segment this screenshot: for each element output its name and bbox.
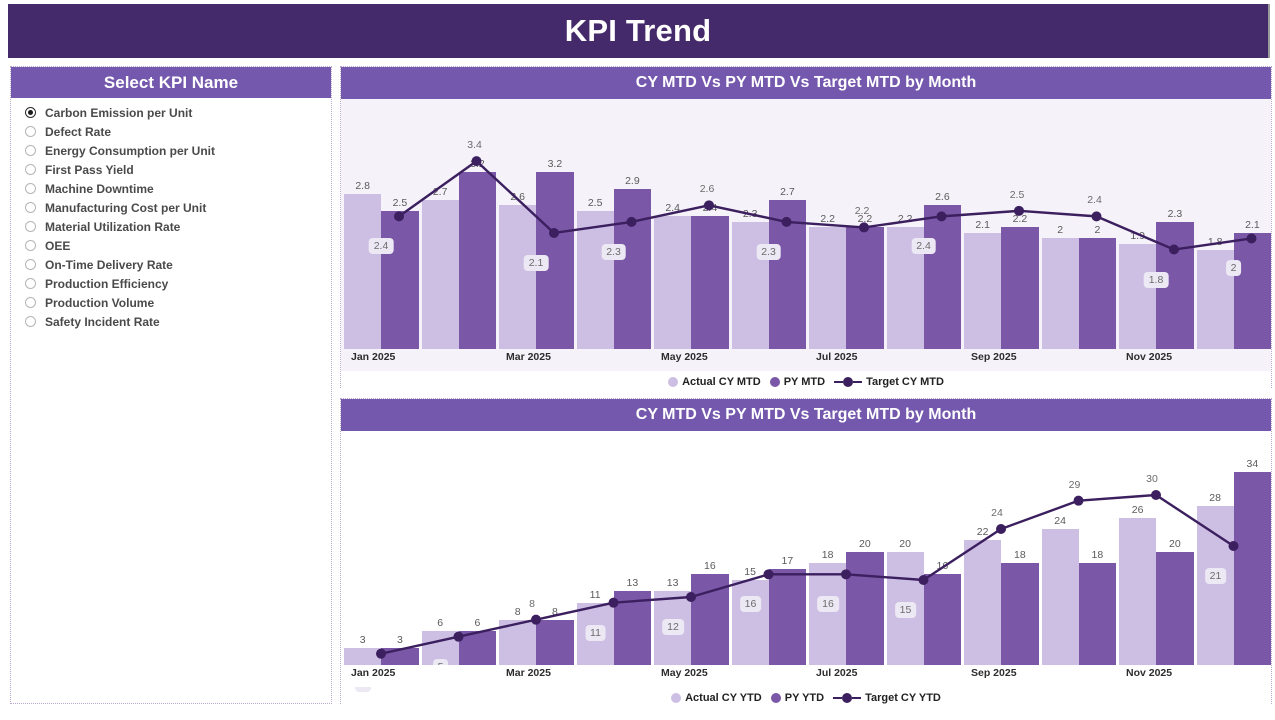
target-value-label: 2.2 bbox=[853, 204, 872, 218]
chart-card-ytd: CY MTD Vs PY MTD Vs Target MTD by Month … bbox=[340, 398, 1272, 704]
axis-tick: Mar 2025 bbox=[496, 349, 574, 371]
target-point[interactable] bbox=[764, 569, 774, 579]
slicer-item-2[interactable]: Energy Consumption per Unit bbox=[25, 141, 331, 160]
slicer-item-label: Manufacturing Cost per Unit bbox=[45, 201, 206, 215]
target-point[interactable] bbox=[841, 569, 851, 579]
target-value-label: 3.4 bbox=[465, 138, 484, 152]
target-value-label: 29 bbox=[1067, 478, 1083, 492]
target-point[interactable] bbox=[627, 217, 637, 227]
axis-tick bbox=[574, 665, 652, 687]
target-point[interactable] bbox=[704, 200, 714, 210]
axis-tick-label: Jul 2025 bbox=[816, 667, 857, 679]
target-value-label: 1.8 bbox=[1144, 272, 1169, 288]
legend-dot-icon bbox=[771, 693, 781, 703]
target-point[interactable] bbox=[549, 228, 559, 238]
axis-tick-label: Jul 2025 bbox=[816, 351, 857, 363]
slicer-item-1[interactable]: Defect Rate bbox=[25, 122, 331, 141]
legend-mtd[interactable]: Actual CY MTDPY MTDTarget CY MTD bbox=[341, 371, 1271, 393]
target-point[interactable] bbox=[1151, 490, 1161, 500]
axis-tick-label: May 2025 bbox=[661, 667, 708, 679]
legend-label: Target CY MTD bbox=[866, 376, 944, 388]
legend-item[interactable]: PY YTD bbox=[771, 692, 824, 704]
target-value-label: 21 bbox=[1205, 568, 1227, 584]
axis-tick bbox=[729, 665, 807, 687]
axis-tick-label: Jan 2025 bbox=[351, 667, 395, 679]
axis-tick: Jan 2025 bbox=[341, 349, 419, 371]
axis-tick bbox=[884, 349, 962, 371]
target-point[interactable] bbox=[859, 222, 869, 232]
target-value-label: 8 bbox=[527, 597, 537, 611]
radio-icon[interactable] bbox=[25, 107, 36, 118]
axis-tick: Jul 2025 bbox=[806, 665, 884, 687]
slicer-item-3[interactable]: First Pass Yield bbox=[25, 160, 331, 179]
axis-tick: Nov 2025 bbox=[1116, 349, 1194, 371]
target-point[interactable] bbox=[609, 598, 619, 608]
legend-label: PY YTD bbox=[785, 692, 824, 704]
target-point[interactable] bbox=[782, 217, 792, 227]
target-value-label: 2.4 bbox=[1085, 193, 1104, 207]
target-value-label: 2.4 bbox=[911, 238, 936, 254]
page-title: KPI Trend bbox=[565, 13, 712, 49]
radio-icon[interactable] bbox=[25, 297, 36, 308]
axis-tick: Sep 2025 bbox=[961, 665, 1039, 687]
radio-icon[interactable] bbox=[25, 202, 36, 213]
axis-tick: Jan 2025 bbox=[341, 665, 419, 687]
axis-tick-label: Nov 2025 bbox=[1126, 351, 1172, 363]
target-value-label: 16 bbox=[740, 596, 762, 612]
target-value-label: 30 bbox=[1144, 472, 1160, 486]
slicer-item-4[interactable]: Machine Downtime bbox=[25, 179, 331, 198]
slicer-item-label: Material Utilization Rate bbox=[45, 220, 180, 234]
x-axis-mtd: Jan 2025Mar 2025May 2025Jul 2025Sep 2025… bbox=[341, 349, 1271, 371]
target-point[interactable] bbox=[531, 615, 541, 625]
slicer-item-label: First Pass Yield bbox=[45, 163, 134, 177]
slicer-item-label: Defect Rate bbox=[45, 125, 111, 139]
axis-tick: Mar 2025 bbox=[496, 665, 574, 687]
axis-tick-label: May 2025 bbox=[661, 351, 708, 363]
target-value-label: 2.1 bbox=[524, 255, 549, 271]
legend-item[interactable]: Target CY MTD bbox=[834, 376, 944, 388]
axis-tick: Jul 2025 bbox=[806, 349, 884, 371]
target-line[interactable] bbox=[399, 161, 1252, 249]
dashboard-page: KPI Trend Select KPI Name Carbon Emissio… bbox=[0, 0, 1275, 720]
target-point[interactable] bbox=[394, 211, 404, 221]
target-point[interactable] bbox=[1247, 233, 1257, 243]
target-point[interactable] bbox=[686, 592, 696, 602]
radio-icon[interactable] bbox=[25, 221, 36, 232]
legend-item[interactable]: Target CY YTD bbox=[833, 692, 941, 704]
chart-title-ytd: CY MTD Vs PY MTD Vs Target MTD by Month bbox=[636, 406, 976, 424]
legend-dot-icon bbox=[668, 377, 678, 387]
axis-tick bbox=[574, 349, 652, 371]
target-point[interactable] bbox=[1074, 496, 1084, 506]
slicer-item-0[interactable]: Carbon Emission per Unit bbox=[25, 103, 331, 122]
target-value-label: 12 bbox=[662, 619, 684, 635]
chart-header-ytd: CY MTD Vs PY MTD Vs Target MTD by Month bbox=[341, 399, 1271, 431]
target-value-label: 11 bbox=[585, 625, 606, 641]
slicer-item-6[interactable]: Material Utilization Rate bbox=[25, 217, 331, 236]
axis-tick bbox=[1039, 665, 1117, 687]
chart-card-mtd: CY MTD Vs PY MTD Vs Target MTD by Month … bbox=[340, 66, 1272, 388]
target-value-label: 16 bbox=[817, 596, 839, 612]
target-value-label: 2.3 bbox=[756, 244, 781, 260]
axis-tick-label: Sep 2025 bbox=[971, 667, 1017, 679]
slicer-header: Select KPI Name bbox=[11, 67, 331, 98]
target-point[interactable] bbox=[996, 524, 1006, 534]
axis-tick bbox=[1194, 665, 1272, 687]
slicer-item-label: Production Volume bbox=[45, 296, 154, 310]
axis-tick bbox=[419, 665, 497, 687]
target-value-label: 24 bbox=[989, 506, 1005, 520]
slicer-item-label: Carbon Emission per Unit bbox=[45, 106, 192, 120]
target-point[interactable] bbox=[1092, 211, 1102, 221]
slicer-item-8[interactable]: On-Time Delivery Rate bbox=[25, 255, 331, 274]
x-axis-ytd: Jan 2025Mar 2025May 2025Jul 2025Sep 2025… bbox=[341, 665, 1271, 687]
legend-label: Actual CY YTD bbox=[685, 692, 762, 704]
target-value-label: 2 bbox=[1226, 260, 1242, 276]
chart-title-mtd: CY MTD Vs PY MTD Vs Target MTD by Month bbox=[636, 74, 976, 92]
legend-item[interactable]: Actual CY YTD bbox=[671, 692, 762, 704]
target-line[interactable] bbox=[381, 495, 1234, 654]
slicer-title: Select KPI Name bbox=[104, 73, 238, 93]
target-value-label: 2.3 bbox=[601, 244, 626, 260]
axis-tick bbox=[419, 349, 497, 371]
target-value-label: 15 bbox=[895, 602, 917, 618]
legend-line-icon bbox=[834, 377, 862, 387]
slicer-item-label: On-Time Delivery Rate bbox=[45, 258, 173, 272]
target-line-layer bbox=[341, 431, 1271, 665]
target-point[interactable] bbox=[1014, 206, 1024, 216]
target-point[interactable] bbox=[919, 575, 929, 585]
radio-icon[interactable] bbox=[25, 145, 36, 156]
radio-icon[interactable] bbox=[25, 164, 36, 175]
axis-tick-label: Jan 2025 bbox=[351, 351, 395, 363]
radio-icon[interactable] bbox=[25, 316, 36, 327]
radio-icon[interactable] bbox=[25, 126, 36, 137]
axis-tick: May 2025 bbox=[651, 349, 729, 371]
legend-dot-icon bbox=[770, 377, 780, 387]
legend-label: Target CY YTD bbox=[865, 692, 941, 704]
target-point[interactable] bbox=[376, 649, 386, 659]
target-point[interactable] bbox=[454, 632, 464, 642]
slicer-item-9[interactable]: Production Efficiency bbox=[25, 274, 331, 293]
page-title-bar: KPI Trend bbox=[8, 4, 1270, 58]
legend-item[interactable]: Actual CY MTD bbox=[668, 376, 761, 388]
target-point[interactable] bbox=[472, 156, 482, 166]
target-value-label: 2.5 bbox=[1008, 188, 1027, 202]
chart-header-mtd: CY MTD Vs PY MTD Vs Target MTD by Month bbox=[341, 67, 1271, 99]
kpi-name-slicer[interactable]: Select KPI Name Carbon Emission per Unit… bbox=[10, 66, 332, 704]
legend-label: PY MTD bbox=[784, 376, 825, 388]
legend-line-icon bbox=[833, 693, 861, 703]
radio-icon[interactable] bbox=[25, 240, 36, 251]
slicer-item-11[interactable]: Safety Incident Rate bbox=[25, 312, 331, 331]
slicer-item-7[interactable]: OEE bbox=[25, 236, 331, 255]
slicer-item-label: OEE bbox=[45, 239, 70, 253]
axis-tick bbox=[1039, 349, 1117, 371]
radio-icon[interactable] bbox=[25, 183, 36, 194]
target-point[interactable] bbox=[1169, 245, 1179, 255]
plot-area-ytd: 3366881113131615171820201622182418262028… bbox=[341, 431, 1271, 665]
axis-tick bbox=[1194, 349, 1272, 371]
legend-dot-icon bbox=[671, 693, 681, 703]
axis-tick bbox=[884, 665, 962, 687]
radio-icon[interactable] bbox=[25, 259, 36, 270]
axis-tick: Sep 2025 bbox=[961, 349, 1039, 371]
slicer-option-list[interactable]: Carbon Emission per UnitDefect RateEnerg… bbox=[11, 98, 331, 703]
slicer-item-5[interactable]: Manufacturing Cost per Unit bbox=[25, 198, 331, 217]
axis-tick-label: Sep 2025 bbox=[971, 351, 1017, 363]
axis-tick: Nov 2025 bbox=[1116, 665, 1194, 687]
axis-tick-label: Nov 2025 bbox=[1126, 667, 1172, 679]
radio-icon[interactable] bbox=[25, 278, 36, 289]
legend-ytd[interactable]: Actual CY YTDPY YTDTarget CY YTD bbox=[341, 687, 1271, 709]
slicer-item-label: Safety Incident Rate bbox=[45, 315, 160, 329]
axis-tick: May 2025 bbox=[651, 665, 729, 687]
target-line-layer bbox=[341, 99, 1271, 349]
target-point[interactable] bbox=[937, 211, 947, 221]
slicer-item-label: Machine Downtime bbox=[45, 182, 154, 196]
slicer-item-label: Energy Consumption per Unit bbox=[45, 144, 215, 158]
axis-tick-label: Mar 2025 bbox=[506, 351, 551, 363]
legend-item[interactable]: PY MTD bbox=[770, 376, 825, 388]
target-value-label: 2.4 bbox=[369, 238, 394, 254]
slicer-item-label: Production Efficiency bbox=[45, 277, 168, 291]
target-value-label: 2.6 bbox=[698, 182, 717, 196]
axis-tick bbox=[729, 349, 807, 371]
plot-area-mtd: 2.82.52.73.22.63.22.52.92.42.42.32.72.22… bbox=[341, 99, 1271, 349]
axis-tick-label: Mar 2025 bbox=[506, 667, 551, 679]
legend-label: Actual CY MTD bbox=[682, 376, 761, 388]
slicer-item-10[interactable]: Production Volume bbox=[25, 293, 331, 312]
target-point[interactable] bbox=[1229, 541, 1239, 551]
